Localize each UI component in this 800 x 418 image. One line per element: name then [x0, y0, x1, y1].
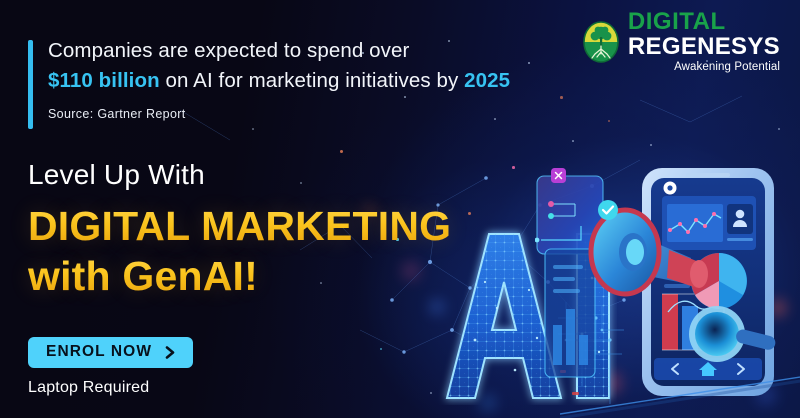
logo-line-2: REGENESYS	[628, 35, 780, 59]
logo-tagline: Awakening Potential	[628, 62, 780, 74]
enrol-now-button[interactable]: ENROL NOW	[28, 337, 193, 368]
close-badge-icon	[551, 168, 566, 183]
accent-bar	[28, 40, 33, 129]
headline-kicker: Level Up With	[28, 158, 488, 192]
megaphone-icon	[583, 192, 708, 312]
headline-line-1: DIGITAL MARKETING	[28, 202, 488, 250]
stat-line-2-text: on AI for marketing initiatives by	[160, 69, 464, 92]
headline-block: Level Up With DIGITAL MARKETING with Gen…	[28, 158, 488, 300]
cta-note: Laptop Required	[28, 379, 193, 397]
stat-year: 2025	[464, 69, 510, 92]
tree-emblem-icon	[582, 20, 620, 64]
logo-line-1: DIGITAL	[628, 10, 780, 34]
cta-block: ENROL NOW Laptop Required	[28, 337, 193, 397]
stat-amount: $110 billion	[48, 69, 160, 92]
data-node-panel	[535, 168, 607, 263]
settings-gear-icon	[664, 182, 677, 195]
headline-line-2: with GenAI!	[28, 252, 488, 300]
stat-block: Companies are expected to spend over $11…	[48, 36, 608, 121]
stat-line-1: Companies are expected to spend over	[48, 36, 608, 66]
user-avatar-icon	[727, 204, 753, 234]
brand-logo[interactable]: DIGITAL REGENESYS Awakening Potential	[582, 10, 780, 74]
marketing-banner: Companies are expected to spend over $11…	[0, 0, 800, 418]
logo-wordmark: DIGITAL REGENESYS Awakening Potential	[628, 10, 780, 74]
horizon-glow-line	[560, 372, 800, 418]
stat-source: Source: Gartner Report	[48, 107, 608, 121]
stat-line-2: $110 billion on AI for marketing initiat…	[48, 66, 608, 96]
stat-line-1-text: Companies are expected to spend over	[48, 39, 409, 62]
magnifier-icon	[684, 300, 780, 370]
nav-back-icon	[672, 364, 678, 374]
device-nav-bar	[654, 358, 762, 380]
check-badge-icon	[596, 198, 620, 222]
side-data-panel	[541, 243, 601, 383]
nav-forward-icon	[738, 364, 744, 374]
enrol-now-label: ENROL NOW	[46, 343, 152, 361]
chevron-right-icon	[164, 346, 177, 359]
pie-chart	[688, 250, 750, 312]
smartphone-device	[638, 162, 778, 402]
line-chart-card	[662, 196, 756, 250]
nav-home-icon	[699, 362, 717, 376]
bar-chart	[662, 294, 724, 350]
circuit-board-graphic	[556, 300, 626, 410]
